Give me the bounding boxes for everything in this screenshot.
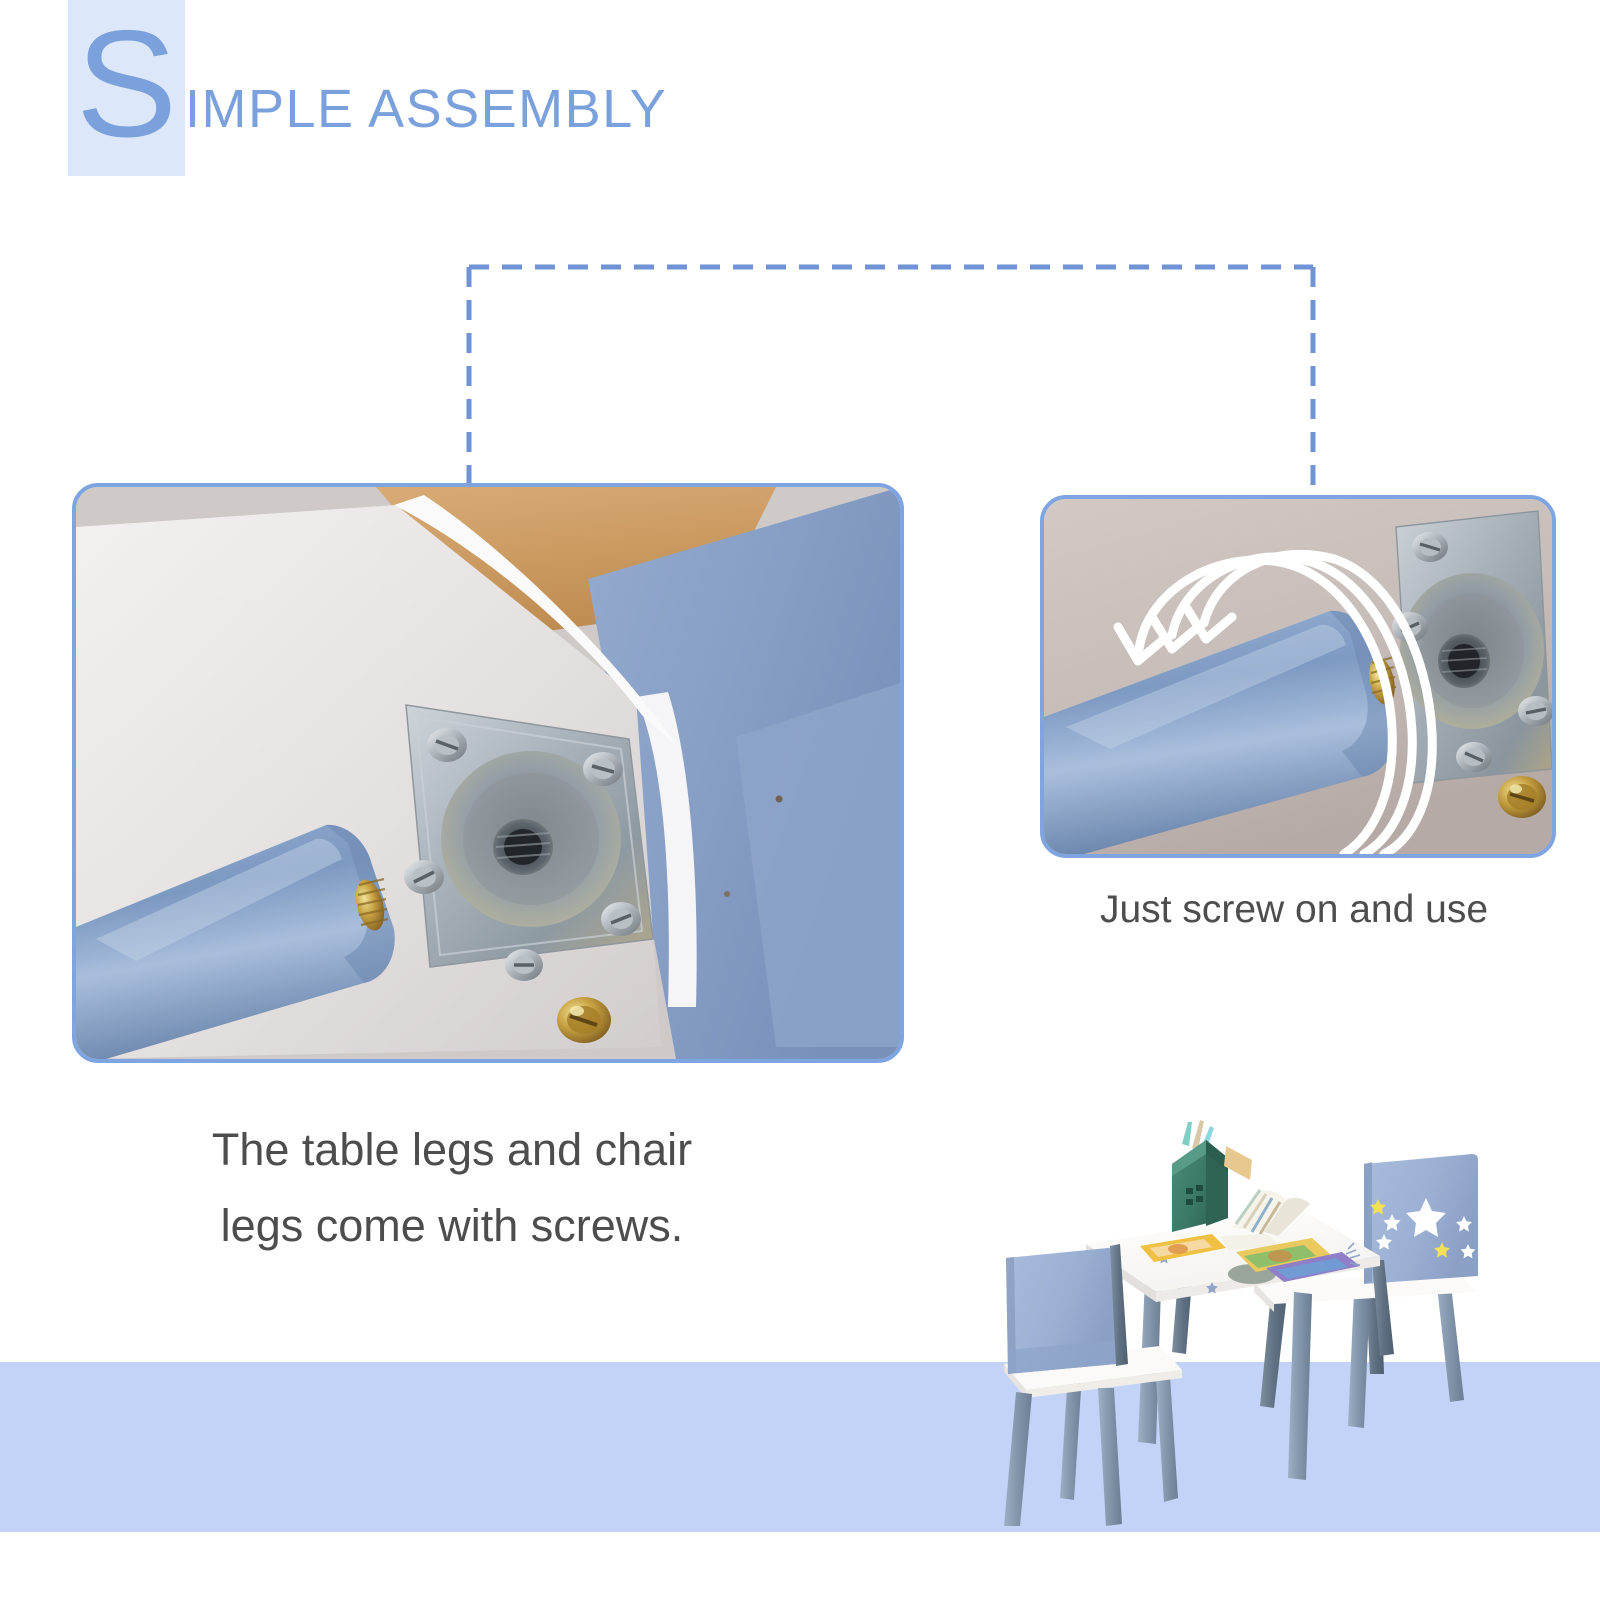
house-pencil-holder (1172, 1120, 1252, 1232)
page-title: IMPLE ASSEMBLY (185, 78, 667, 140)
screw-motion-illustration (1044, 499, 1552, 854)
closeup-leg-bracket-photo (72, 483, 904, 1063)
chair-right-leg-right (1436, 1276, 1464, 1402)
product-illustration (960, 1106, 1480, 1526)
pencil-teal (1182, 1122, 1192, 1146)
screw-on-motion-photo (1040, 495, 1556, 858)
metal-mounting-plate (404, 705, 653, 981)
table (1086, 1210, 1394, 1480)
right-panel-caption: Just screw on and use (1040, 888, 1548, 932)
chair-left-leg-front-l (1004, 1392, 1032, 1526)
kids-table-and-chairs-product-photo (960, 1106, 1480, 1526)
main-caption-line-1: The table legs and chair (92, 1112, 812, 1188)
panel-hole-2 (724, 891, 730, 897)
header: S IMPLE ASSEMBLY (0, 0, 1600, 200)
initial-letter: S (68, 0, 185, 176)
book-behind-house (1224, 1146, 1252, 1180)
loose-brass-screw (1498, 776, 1546, 818)
chair-right-with-stars (1254, 1154, 1478, 1428)
main-caption-line-2: legs come with screws. (92, 1188, 812, 1264)
chair-left-leg-back-r (1156, 1376, 1178, 1502)
main-caption: The table legs and chair legs come with … (92, 1112, 812, 1264)
leg-bracket-illustration (76, 487, 900, 1059)
chair-right-leg-front (1348, 1292, 1370, 1428)
panel-hole-1 (776, 796, 783, 803)
loose-brass-screw (557, 997, 611, 1043)
table-leg-front-left (1288, 1292, 1312, 1480)
chair-left-leg-front-r (1098, 1388, 1122, 1526)
